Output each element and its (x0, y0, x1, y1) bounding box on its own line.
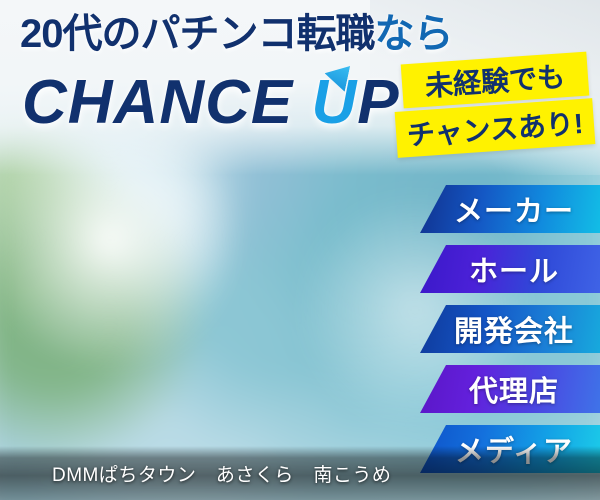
badge-label-0: 未経験でも (424, 55, 566, 105)
caption-text: DMMぱちタウン あさくら 南こうめ (52, 460, 391, 487)
page-title: 20代のパチンコ転職なら (20, 14, 440, 54)
chance-up-wordmark: CHANCE UP (22, 72, 400, 134)
headline-accent: なら (375, 12, 453, 56)
wordmark-u: U (311, 72, 357, 134)
wordmark-p: P (357, 68, 399, 137)
category-label-0: メーカー (420, 188, 600, 230)
category-label-3: 代理店 (420, 368, 600, 410)
category-label-1: ホール (420, 248, 600, 290)
category-label-2: 開発会社 (420, 308, 600, 350)
category-button-development-company[interactable]: 開発会社 (420, 305, 600, 353)
category-button-hall[interactable]: ホール (420, 245, 600, 293)
caption-bar: DMMぱちタウン あさくら 南こうめ (0, 446, 600, 500)
recruitment-banner-ad[interactable]: 20代のパチンコ転職なら CHANCE UP 未経験でも チャンスあり! メーカ… (0, 0, 600, 500)
category-button-maker[interactable]: メーカー (420, 185, 600, 233)
category-button-agency[interactable]: 代理店 (420, 365, 600, 413)
badge-label-1: チャンスあり! (406, 102, 585, 154)
headline-main: 20代のパチンコ転職 (20, 12, 375, 56)
wordmark-chance: CHANCE (22, 68, 293, 137)
